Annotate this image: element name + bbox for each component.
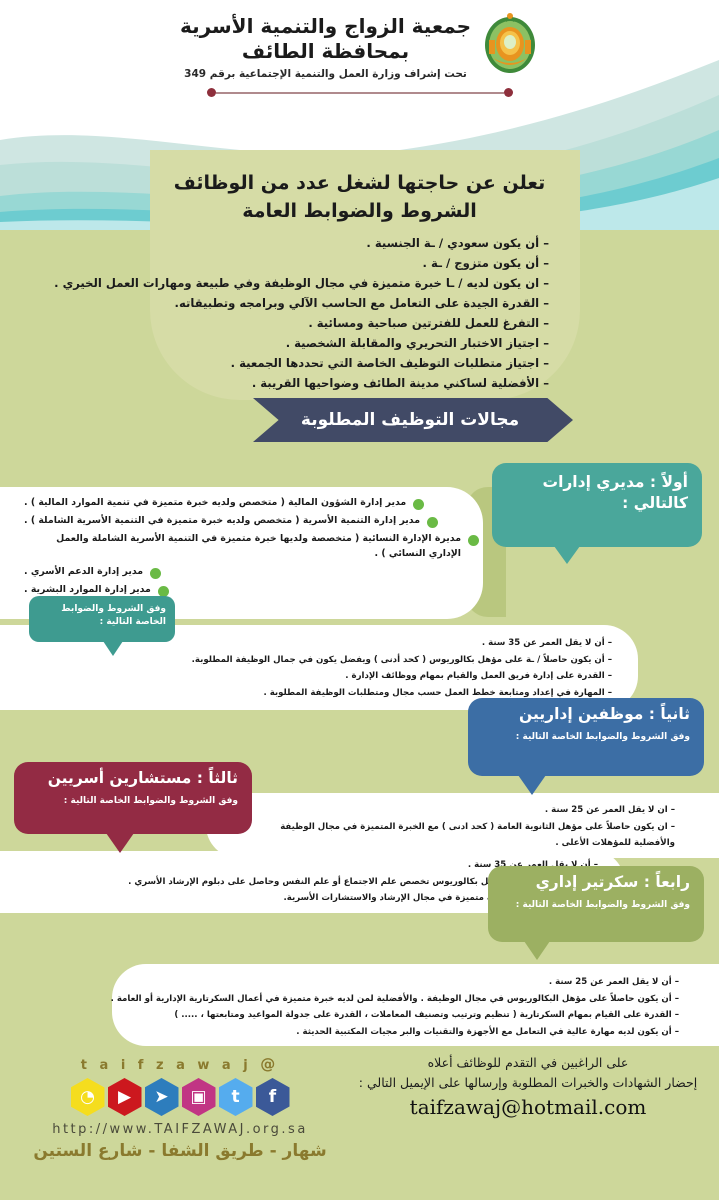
telegram-icon-glyph: ➤	[145, 1078, 179, 1116]
section1-roles-list: مدير إدارة الشؤون المالية ( متخصص ولديه …	[24, 496, 479, 601]
section2-requirements-list: – ان لا يقل العمر عن 25 سنة .– ان يكون ح…	[206, 793, 719, 852]
requirement-line: والأفضلية للمؤهلات الأعلى .	[206, 835, 719, 852]
role-bullet-icon	[427, 517, 438, 528]
facebook-icon[interactable]: f	[256, 1078, 290, 1116]
announcement-title-1: تعلن عن حاجتها لشغل عدد من الوظائف	[0, 172, 719, 194]
section4-requirements-card: – أن لا يقل العمر عن 25 سنة .– أن يكون ح…	[112, 964, 719, 1046]
section4-bubble-tail	[524, 941, 550, 960]
section1-conditions-note: وفق الشروط والضوابط الخاصة التالية :	[29, 596, 175, 642]
apply-line-2: إحضار الشهادات والخبرات المطلوبة وإرساله…	[345, 1075, 711, 1090]
role-item: مديرة الإدارة النسائية ( متخصصة ولديها خ…	[24, 532, 479, 561]
requirement-line: – أن يكون لديه مهارة عالية في التعامل مع…	[112, 1024, 719, 1041]
social-handle: @ t a i f z a w a j	[0, 1055, 360, 1073]
requirement-line: – أن يكون حاصلاً / ـة على مؤهل بكالوريوس…	[0, 652, 638, 669]
twitter-icon-glyph: t	[219, 1078, 253, 1116]
section2-subtitle: وفق الشروط والضوابط الخاصة التالية :	[482, 732, 690, 744]
instagram-icon[interactable]: ▣	[182, 1078, 216, 1116]
snapchat-icon-glyph: ◔	[71, 1078, 105, 1116]
divider-dot-right	[504, 88, 513, 97]
role-label: مدير إدارة التنمية الأسرية ( متخصص ولديه…	[24, 514, 420, 529]
section4-subtitle: وفق الشروط والضوابط الخاصة التالية :	[502, 900, 690, 912]
social-handle-text: t a i f z a w a j	[81, 1058, 252, 1073]
requirement-line: – القدرة على القيام بمهام السكرتارية ( ت…	[112, 1007, 719, 1024]
section2-requirements-card: – ان لا يقل العمر عن 25 سنة .– ان يكون ح…	[206, 793, 719, 858]
facebook-icon-glyph: f	[256, 1078, 290, 1116]
role-bullet-icon	[150, 568, 161, 579]
requirement-line: – ان يكون حاصلاً على مؤهل الثانوية العام…	[206, 819, 719, 836]
section1-title-line1: أولاً : مديري إدارات	[506, 472, 688, 493]
announcement-block: تعلن عن حاجتها لشغل عدد من الوظائف الشرو…	[0, 172, 719, 394]
requirement-line: – أن يكون حاصلاً على مؤهل البكالوريوس في…	[112, 991, 719, 1008]
section1-bubble: أولاً : مديري إدارات كالتالي :	[492, 463, 702, 547]
contact-email[interactable]: taifzawaj@hotmail.com	[345, 1095, 711, 1119]
general-condition-7: – اجتياز متطلبات التوظيف الخاصة التي تحد…	[0, 354, 719, 374]
section3-subtitle: وفق الشروط والضوابط الخاصة التالية :	[28, 796, 238, 808]
general-conditions-list: – أن يكون سعودي / ـة الجنسية .– أن يكون …	[0, 234, 719, 394]
general-condition-1: – أن يكون سعودي / ـة الجنسية .	[0, 234, 719, 254]
general-condition-2: – أن يكون متزوج / ـة .	[0, 254, 719, 274]
requirement-line: – ان لا يقل العمر عن 25 سنة .	[206, 802, 719, 819]
section1-note-tail	[103, 641, 123, 656]
role-item: مدير إدارة التنمية الأسرية ( متخصص ولديه…	[24, 514, 479, 529]
poster-root: جمعية الزواج والتنمية الأسرية بمحافظة ال…	[0, 0, 719, 1200]
social-icons-row[interactable]: ft▣➤▶◔	[0, 1078, 360, 1116]
poster-header: جمعية الزواج والتنمية الأسرية بمحافظة ال…	[0, 10, 719, 101]
telegram-icon[interactable]: ➤	[145, 1078, 179, 1116]
general-condition-4: – القدرة الجيدة على التعامل مع الحاسب ال…	[0, 294, 719, 314]
street-address: شهار - طريق الشفا - شارع الستين	[0, 1141, 360, 1161]
section4-requirements-list: – أن لا يقل العمر عن 25 سنة .– أن يكون ح…	[112, 964, 719, 1040]
section2-bubble-tail	[518, 775, 546, 795]
apply-line-1: على الراغبين في التقدم للوظائف أعلاه	[345, 1055, 711, 1070]
role-bullet-icon	[468, 535, 479, 546]
divider-dot-left	[207, 88, 216, 97]
role-label: مدير إدارة الشؤون المالية ( متخصص ولديه …	[24, 496, 406, 511]
section3-bubble-tail	[106, 833, 134, 853]
requirement-line: – أن لا يقل العمر عن 25 سنة .	[112, 974, 719, 991]
role-item: مدير إدارة الشؤون المالية ( متخصص ولديه …	[24, 496, 479, 511]
header-divider	[180, 88, 539, 97]
divider-line	[216, 92, 504, 94]
role-item: مدير إدارة الدعم الأسري .	[24, 565, 479, 580]
org-name-line1: جمعية الزواج والتنمية الأسرية	[180, 14, 471, 39]
section4-title: رابعاً : سكرتير إداري	[502, 872, 690, 893]
general-condition-6: – اجتياز الاختبار التحريري والمقابلة الش…	[0, 334, 719, 354]
role-label: مديرة الإدارة النسائية ( متخصصة ولديها خ…	[24, 532, 461, 561]
role-label: مدير إدارة الدعم الأسري .	[24, 565, 143, 580]
general-condition-5: – التفرغ للعمل للفترتين صباحية ومسائية .	[0, 314, 719, 334]
section2-bubble: ثانياً : موظفين إداريين وفق الشروط والضو…	[468, 698, 704, 776]
general-condition-8: – الأفضلية لساكني مدينة الطائف وضواحيها …	[0, 374, 719, 394]
youtube-icon[interactable]: ▶	[108, 1078, 142, 1116]
poster-footer: @ t a i f z a w a j ft▣➤▶◔ http://www.TA…	[0, 1055, 719, 1200]
section3-title: ثالثاً : مستشارين أسريين	[28, 768, 238, 789]
youtube-icon-glyph: ▶	[108, 1078, 142, 1116]
footer-contact-left: @ t a i f z a w a j ft▣➤▶◔ http://www.TA…	[0, 1055, 360, 1161]
supervision-note: تحت إشراف وزارة العمل والتنمية الإجتماعي…	[180, 68, 471, 80]
section2-title: ثانياً : موظفين إداريين	[482, 704, 690, 725]
section1-title-line2: كالتالي :	[506, 493, 688, 514]
association-emblem-icon	[481, 10, 539, 76]
section1-note-line2: الخاصة التالية :	[38, 616, 166, 629]
section3-bubble: ثالثاً : مستشارين أسريين وفق الشروط والض…	[14, 762, 252, 834]
section1-bubble-tail	[554, 546, 580, 564]
general-condition-3: – ان يكون لديه / ـا خبرة متميزة في مجال …	[0, 274, 719, 294]
at-symbol-icon: @	[260, 1055, 279, 1073]
snapchat-icon[interactable]: ◔	[71, 1078, 105, 1116]
section4-bubble: رابعاً : سكرتير إداري وفق الشروط والضواب…	[488, 866, 704, 942]
footer-apply-right: على الراغبين في التقدم للوظائف أعلاه إحض…	[345, 1055, 711, 1119]
website-url[interactable]: http://www.TAIFZAWAJ.org.sa	[0, 1122, 360, 1137]
twitter-icon[interactable]: t	[219, 1078, 253, 1116]
section1-note-line1: وفق الشروط والضوابط	[38, 603, 166, 616]
role-bullet-icon	[413, 499, 424, 510]
employment-fields-banner: مجالات التوظيف المطلوبة	[253, 398, 573, 442]
banner-label: مجالات التوظيف المطلوبة	[253, 398, 573, 442]
org-name-line2: بمحافظة الطائف	[180, 39, 471, 64]
announcement-title-2: الشروط والضوابط العامة	[0, 200, 719, 222]
requirement-line: – القدرة على إدارة فريق العمل والقيام بم…	[0, 668, 638, 685]
instagram-icon-glyph: ▣	[182, 1078, 216, 1116]
